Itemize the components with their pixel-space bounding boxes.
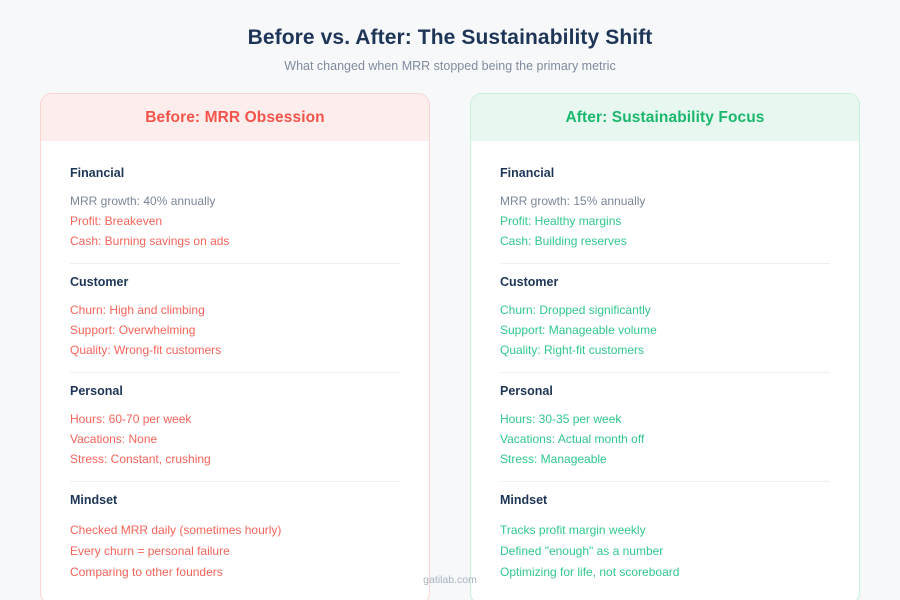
card-before: Before: MRR Obsession Financial MRR grow… [40,93,430,600]
section-title: Personal [500,383,830,400]
section-item: Cash: Building reserves [500,231,830,251]
card-after-body: Financial MRR growth: 15% annually Profi… [471,141,859,600]
section-financial: Financial MRR growth: 15% annually Profi… [500,155,830,263]
section-item: Vacations: Actual month off [500,429,830,449]
section-item: Churn: High and climbing [70,300,400,320]
section-mindset: Mindset Tracks profit margin weekly Defi… [500,481,830,586]
card-before-title: Before: MRR Obsession [41,94,429,141]
comparison-cards: Before: MRR Obsession Financial MRR grow… [40,93,860,600]
section-title: Mindset [500,492,830,509]
section-title: Financial [500,165,830,182]
section-item: Profit: Healthy margins [500,211,830,231]
section-item: Quality: Right-fit customers [500,340,830,360]
section-title: Personal [70,383,400,400]
section-item: Defined "enough" as a number [500,540,830,561]
section-item: Checked MRR daily (sometimes hourly) [70,519,400,540]
section-mindset: Mindset Checked MRR daily (sometimes hou… [70,481,400,586]
section-item: Cash: Burning savings on ads [70,231,400,251]
section-item: Churn: Dropped significantly [500,300,830,320]
page-header: Before vs. After: The Sustainability Shi… [0,0,900,75]
section-item: Tracks profit margin weekly [500,519,830,540]
section-item: Quality: Wrong-fit customers [70,340,400,360]
page-root: Before vs. After: The Sustainability Shi… [0,0,900,600]
section-item: MRR growth: 15% annually [500,191,830,211]
page-subtitle: What changed when MRR stopped being the … [0,58,900,75]
section-item: Stress: Manageable [500,449,830,469]
section-title: Customer [500,274,830,291]
section-financial: Financial MRR growth: 40% annually Profi… [70,155,400,263]
section-customer: Customer Churn: Dropped significantly Su… [500,263,830,372]
card-after-title: After: Sustainability Focus [471,94,859,141]
section-title: Financial [70,165,400,182]
section-item: Support: Overwhelming [70,320,400,340]
section-customer: Customer Churn: High and climbing Suppor… [70,263,400,372]
section-item: Hours: 60-70 per week [70,409,400,429]
section-item: Support: Manageable volume [500,320,830,340]
page-title: Before vs. After: The Sustainability Shi… [0,24,900,52]
section-title: Mindset [70,492,400,509]
section-item: Vacations: None [70,429,400,449]
section-personal: Personal Hours: 30-35 per week Vacations… [500,372,830,481]
card-after: After: Sustainability Focus Financial MR… [470,93,860,600]
section-item: Every churn = personal failure [70,540,400,561]
section-item: MRR growth: 40% annually [70,191,400,211]
section-item: Stress: Constant, crushing [70,449,400,469]
footer-attribution: gatilab.com [0,573,900,587]
section-personal: Personal Hours: 60-70 per week Vacations… [70,372,400,481]
card-before-body: Financial MRR growth: 40% annually Profi… [41,141,429,600]
section-item: Hours: 30-35 per week [500,409,830,429]
section-title: Customer [70,274,400,291]
section-item: Profit: Breakeven [70,211,400,231]
